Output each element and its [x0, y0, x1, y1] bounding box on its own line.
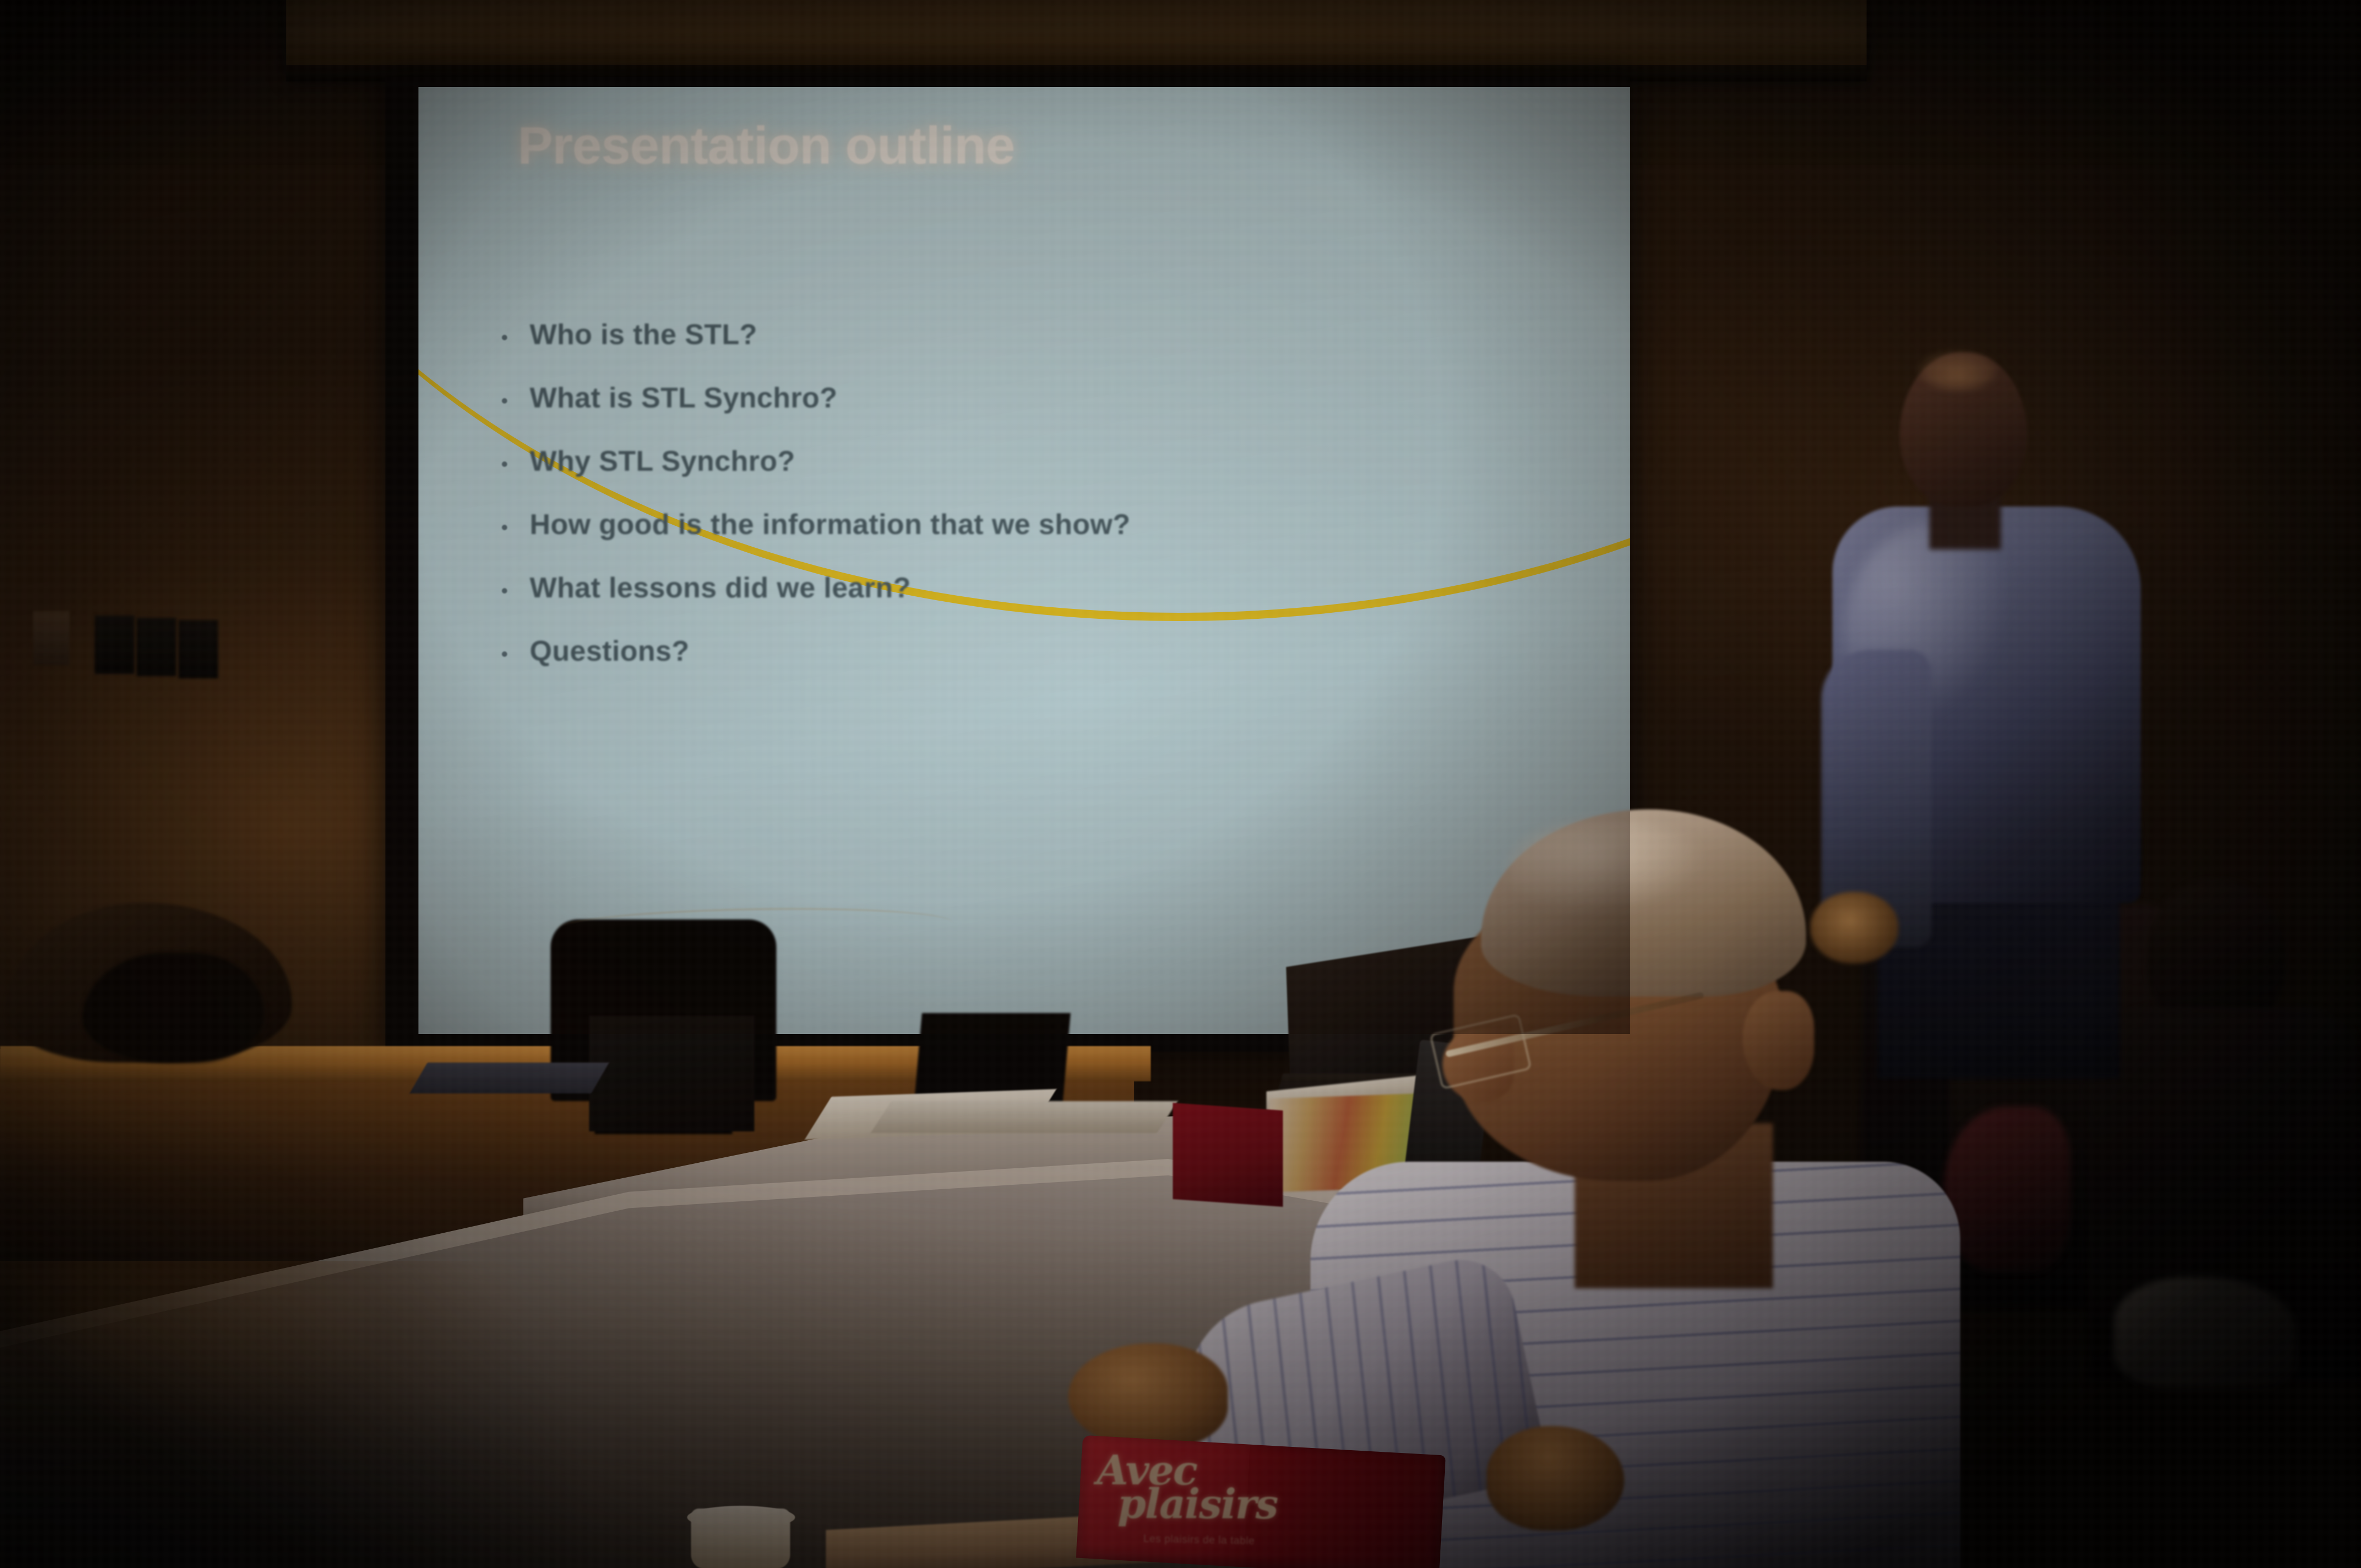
elderly-man-hand — [1068, 1343, 1228, 1448]
wall-plate-3[interactable] — [178, 620, 218, 678]
bullet-text: How good is the information that we show… — [530, 508, 1130, 541]
bullet-text: Questions? — [530, 635, 689, 668]
box-brand-script: Avec plaisirs — [1096, 1454, 1277, 1521]
photograph-scene: Presentation outline • Who is the STL? •… — [0, 0, 2361, 1568]
slide-title: Presentation outline — [518, 116, 1015, 176]
disposable-cup — [691, 1509, 790, 1568]
list-item: • Why STL Synchro? — [501, 445, 1575, 478]
bullet-text: Why STL Synchro? — [530, 445, 795, 478]
avec-plaisirs-box: Avec plaisirs Les plaisirs de la table — [1076, 1435, 1445, 1568]
bullet-glyph-icon: • — [501, 644, 530, 664]
bag-on-credenza-shadow — [83, 952, 264, 1063]
table-warm-light — [0, 1261, 771, 1568]
list-item: • Questions? — [501, 635, 1575, 668]
slide-bullet-list: • Who is the STL? • What is STL Synchro?… — [501, 318, 1575, 698]
box-brand-line-2: plaisirs — [1117, 1488, 1277, 1522]
box-tagline: Les plaisirs de la table — [1143, 1533, 1255, 1548]
bullet-glyph-icon: • — [501, 454, 530, 474]
bullet-text: Who is the STL? — [530, 318, 757, 351]
bullet-text: What is STL Synchro? — [530, 382, 837, 415]
bullet-glyph-icon: • — [501, 391, 530, 411]
list-item: • Who is the STL? — [501, 318, 1575, 351]
bullet-glyph-icon: • — [501, 518, 530, 537]
bullet-glyph-icon: • — [501, 328, 530, 347]
elderly-man-ear — [1743, 991, 1814, 1090]
elderly-man-hand-2 — [1487, 1426, 1624, 1531]
list-item: • How good is the information that we sh… — [501, 508, 1575, 541]
light-switch-plate[interactable] — [33, 611, 69, 665]
attendee-light-garment — [2114, 1277, 2296, 1387]
bullet-text: What lessons did we learn? — [530, 571, 911, 605]
bullet-glyph-icon: • — [501, 581, 530, 601]
paper-sheet-2 — [871, 1101, 1178, 1133]
list-item: • What lessons did we learn? — [501, 571, 1575, 605]
presenter-head-highlight — [1919, 351, 1996, 390]
list-item: • What is STL Synchro? — [501, 382, 1575, 415]
wall-plate-1[interactable] — [95, 616, 134, 674]
presentation-slide: Presentation outline • Who is the STL? •… — [418, 87, 1630, 1034]
wall-plate-2[interactable] — [137, 618, 176, 676]
projection-screen-surface: Presentation outline • Who is the STL? •… — [418, 87, 1630, 1034]
dark-mat — [410, 1063, 609, 1093]
